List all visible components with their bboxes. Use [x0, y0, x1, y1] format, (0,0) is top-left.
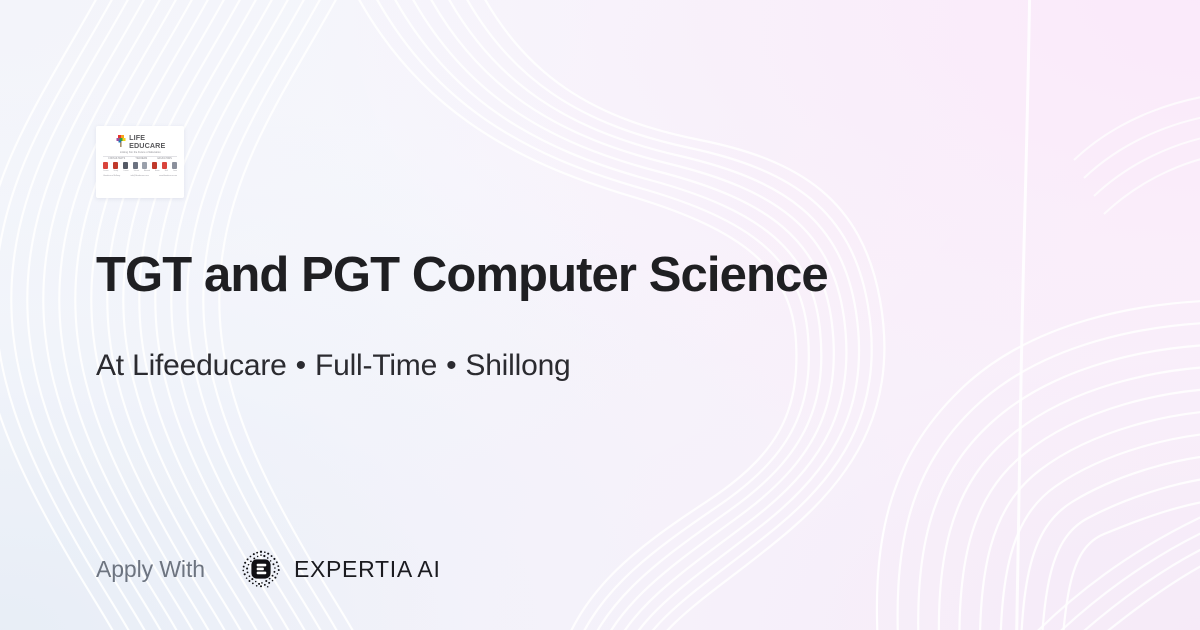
logo-divider: [103, 156, 177, 157]
logo-service-icons: [102, 162, 178, 169]
service-label: Skill: [165, 170, 168, 172]
logo-header: LIFE EDUCARE: [115, 134, 166, 149]
tree-icon: [115, 134, 127, 148]
service-icon-coach: [123, 162, 128, 169]
service-label: Abroad: [144, 170, 150, 172]
expertia-ai-logo-lockup[interactable]: EXPERTIA AI: [237, 545, 441, 593]
apply-footer: Apply With: [96, 545, 441, 593]
logo-category: EDUCATORS: [157, 158, 171, 160]
meta-separator-icon: •: [446, 348, 456, 384]
logo-category: CONSULTANTS: [108, 158, 125, 160]
job-share-card: LIFE EDUCARE Linking him the Future of E…: [0, 0, 1200, 630]
service-icon-study: [113, 162, 118, 169]
topographic-contour-background: [0, 0, 1200, 630]
job-meta-line: At Lifeeducare•Full-Time•Shillong: [96, 348, 571, 384]
job-company: At Lifeeducare: [96, 349, 287, 382]
logo-wordmark: LIFE EDUCARE: [129, 134, 165, 149]
service-label: School: [134, 170, 140, 172]
logo-brand-line-2: EDUCARE: [129, 142, 165, 149]
service-icon-exam: [152, 162, 157, 169]
employer-logo-card: LIFE EDUCARE Linking him the Future of E…: [96, 126, 184, 198]
job-employment-type: Full-Time: [315, 349, 437, 382]
service-icon-career: [103, 162, 108, 169]
logo-category: TRAINERS: [135, 158, 147, 160]
job-title: TGT and PGT Computer Science: [96, 249, 1096, 302]
apply-with-label: Apply With: [96, 556, 205, 583]
logo-footer-email: info@lifeeducare.com: [130, 175, 148, 177]
expertia-dotted-e-icon: [237, 545, 285, 593]
service-icon-skill: [162, 162, 167, 169]
service-label: Loan: [173, 170, 177, 172]
logo-footer-row: Lifeeducare Shillong info@lifeeducare.co…: [103, 175, 177, 177]
logo-category-row: CONSULTANTS TRAINERS EDUCATORS: [103, 158, 177, 160]
meta-separator-icon: •: [296, 348, 306, 384]
job-location: Shillong: [465, 349, 570, 382]
service-icon-abroad: [142, 162, 147, 169]
service-icon-loan: [172, 162, 177, 169]
logo-tagline: Linking him the Future of Education: [120, 151, 161, 154]
logo-footer-address: Lifeeducare Shillong: [103, 175, 120, 177]
service-label: Exam: [155, 170, 160, 172]
service-label: Career: [123, 170, 129, 172]
service-label: Career: [103, 170, 109, 172]
service-label: Study: [114, 170, 119, 172]
logo-footer-website: www.lifeeducare.com: [159, 175, 177, 177]
service-icon-school: [133, 162, 138, 169]
logo-service-labels: Career Study Career School Abroad Exam S…: [102, 170, 178, 172]
expertia-ai-brand-name: EXPERTIA AI: [294, 556, 441, 583]
